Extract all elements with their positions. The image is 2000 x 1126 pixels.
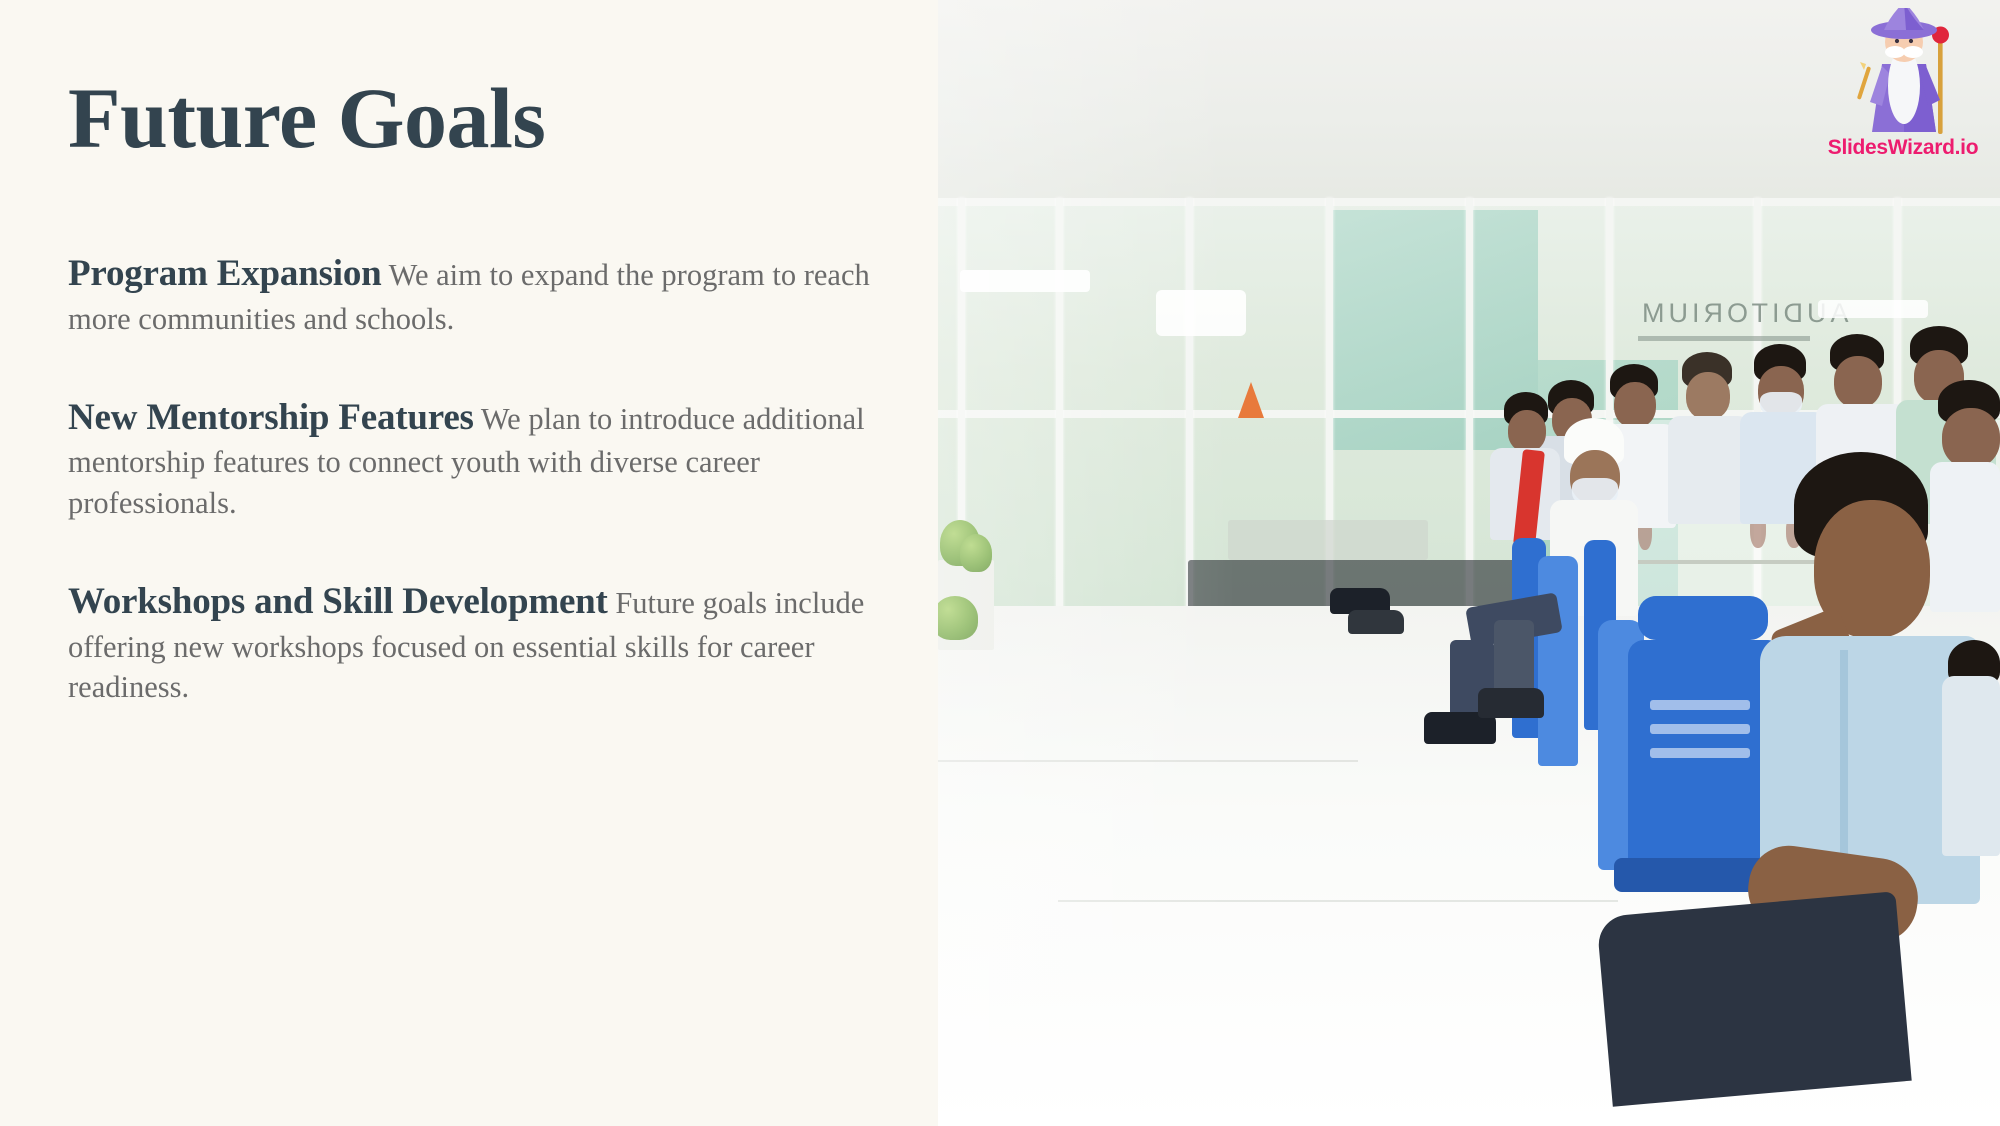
- ceiling-light: [960, 270, 1090, 292]
- floor-seam: [938, 760, 1358, 762]
- auditorium-sign-underline: [1638, 336, 1810, 341]
- page-title: Future Goals: [68, 60, 898, 163]
- chair-slot: [1650, 724, 1750, 734]
- ceiling-light: [1818, 300, 1928, 318]
- lab-glassware: [1228, 520, 1428, 560]
- chair-slot: [1650, 748, 1750, 758]
- bullet-lead-program-expansion: Program Expansion: [68, 253, 382, 294]
- list-item: New Mentorship Features We plan to intro…: [68, 393, 898, 523]
- bullet-list: Program Expansion We aim to expand the p…: [68, 249, 898, 707]
- watermark-brand-text: SlidesWizard.io: [1820, 136, 1986, 160]
- traffic-cone: [1238, 382, 1264, 418]
- list-item: Program Expansion We aim to expand the p…: [68, 249, 898, 339]
- slide-canvas: Future Goals Program Expansion We aim to…: [0, 0, 2000, 1126]
- shoe: [1348, 610, 1404, 634]
- chair-slot: [1650, 700, 1750, 710]
- text-panel: Future Goals Program Expansion We aim to…: [0, 0, 938, 1126]
- chair-backrest: [1638, 596, 1768, 640]
- floor-seam: [1058, 900, 1618, 902]
- bullet-lead-workshops-and-skill-development: Workshops and Skill Development: [68, 581, 608, 622]
- plant: [960, 534, 992, 572]
- watermark: SlidesWizard.io: [1828, 8, 1978, 173]
- wizard-icon: [1850, 8, 1958, 136]
- slide-photo: AUDITORIUM: [938, 0, 2000, 1126]
- chair: [1538, 556, 1578, 766]
- auditorium-sign-text: AUDITORIUM: [1638, 298, 1849, 329]
- list-item: Workshops and Skill Development Future g…: [68, 577, 898, 707]
- plant: [938, 596, 978, 640]
- ceiling-light: [1156, 290, 1246, 336]
- bullet-lead-new-mentorship-features: New Mentorship Features: [68, 397, 474, 438]
- shoe: [1478, 688, 1544, 718]
